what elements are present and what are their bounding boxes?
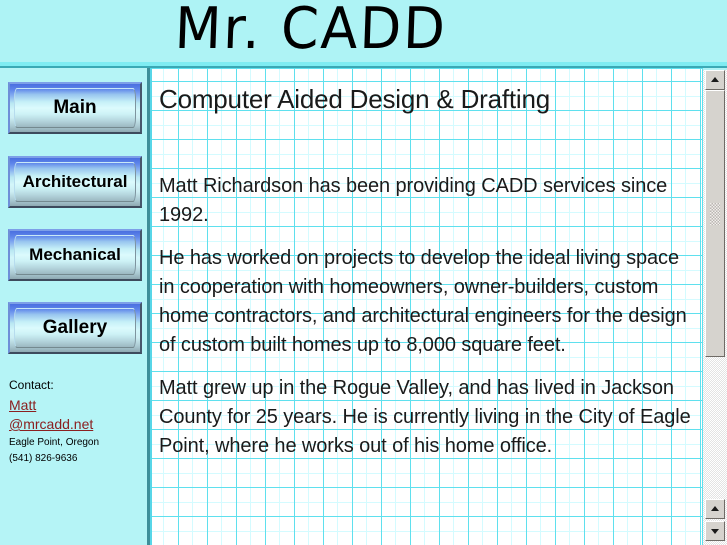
button-face: Main (14, 88, 136, 128)
contact-email-link-line2[interactable]: @mrcadd.net (9, 415, 141, 434)
button-face: Architectural (14, 162, 136, 202)
site-banner: Mr. CADD (0, 0, 727, 62)
scroll-down-button[interactable] (705, 521, 725, 541)
scrollbar-grip-icon (710, 203, 720, 225)
sidebar-item-label-architectural: Architectural (23, 172, 128, 192)
triangle-up-icon (711, 506, 719, 511)
site-logo: Mr. CADD (174, 0, 448, 62)
button-face: Mechanical (14, 235, 136, 275)
contact-block: Contact: Matt @mrcadd.net Eagle Point, O… (9, 378, 141, 466)
content-panel: Computer Aided Design & Drafting Matt Ri… (150, 68, 703, 545)
paragraph-1: Matt Richardson has been providing CADD … (159, 172, 693, 230)
button-face: Gallery (14, 308, 136, 348)
sidebar: Main Architectural Mechanical Gallery C (0, 68, 147, 545)
scroll-up-button[interactable] (705, 70, 725, 90)
contact-city: Eagle Point, Oregon (9, 436, 141, 450)
sidebar-item-architectural[interactable]: Architectural (8, 156, 142, 208)
sidebar-item-main[interactable]: Main (8, 82, 142, 134)
triangle-up-icon (711, 77, 719, 82)
sidebar-item-label-main: Main (53, 97, 96, 119)
paragraph-3: Matt grew up in the Rogue Valley, and ha… (159, 374, 693, 461)
triangle-down-icon (711, 529, 719, 534)
scrollbar-thumb[interactable] (705, 90, 725, 357)
sidebar-item-gallery[interactable]: Gallery (8, 302, 142, 354)
page-root: Mr. CADD Main Architectural Mechanical (0, 0, 727, 545)
contact-phone: (541) 826-9636 (9, 452, 141, 466)
sidebar-item-mechanical[interactable]: Mechanical (8, 229, 142, 281)
contact-email-link-line1[interactable]: Matt (9, 396, 141, 415)
sidebar-item-label-gallery: Gallery (43, 317, 107, 339)
body-area: Main Architectural Mechanical Gallery C (0, 68, 727, 545)
paragraph-2: He has worked on projects to develop the… (159, 244, 693, 360)
contact-label: Contact: (9, 378, 141, 392)
scroll-up-button-bottom[interactable] (705, 499, 725, 519)
sidebar-item-label-mechanical: Mechanical (29, 245, 121, 265)
page-title: Computer Aided Design & Drafting (159, 82, 693, 116)
content-text: Computer Aided Design & Drafting Matt Ri… (150, 68, 703, 461)
vertical-scrollbar[interactable] (703, 68, 727, 545)
